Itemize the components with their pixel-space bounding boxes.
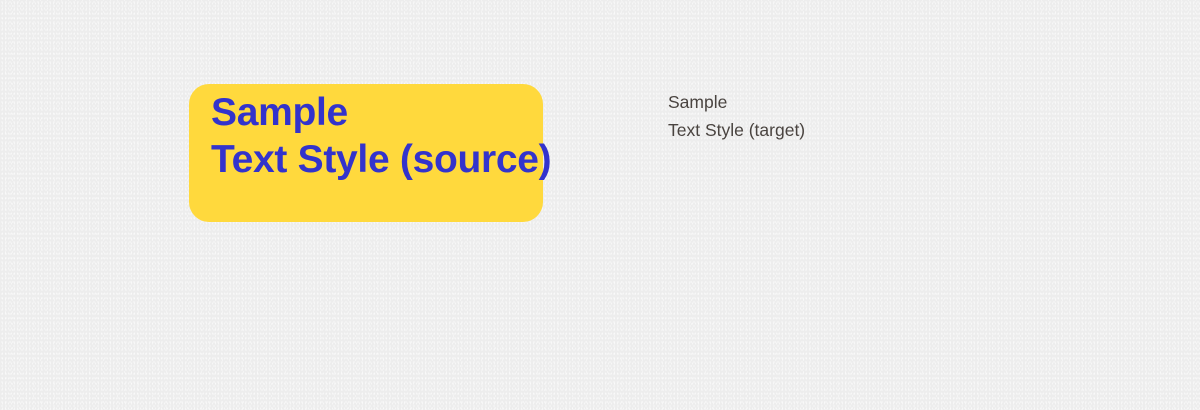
target-text-line-2: Text Style (target)	[668, 116, 968, 144]
source-text-line-2: Text Style (source)	[211, 136, 531, 183]
source-style-card[interactable]: Sample Text Style (source)	[189, 84, 543, 222]
target-style-card[interactable]: Sample Text Style (target)	[668, 88, 968, 144]
style-comparison-canvas: Sample Text Style (source) Sample Text S…	[0, 0, 1200, 410]
source-text-block: Sample Text Style (source)	[211, 89, 531, 183]
target-text-line-1: Sample	[668, 88, 968, 116]
source-text-line-1: Sample	[211, 89, 531, 136]
